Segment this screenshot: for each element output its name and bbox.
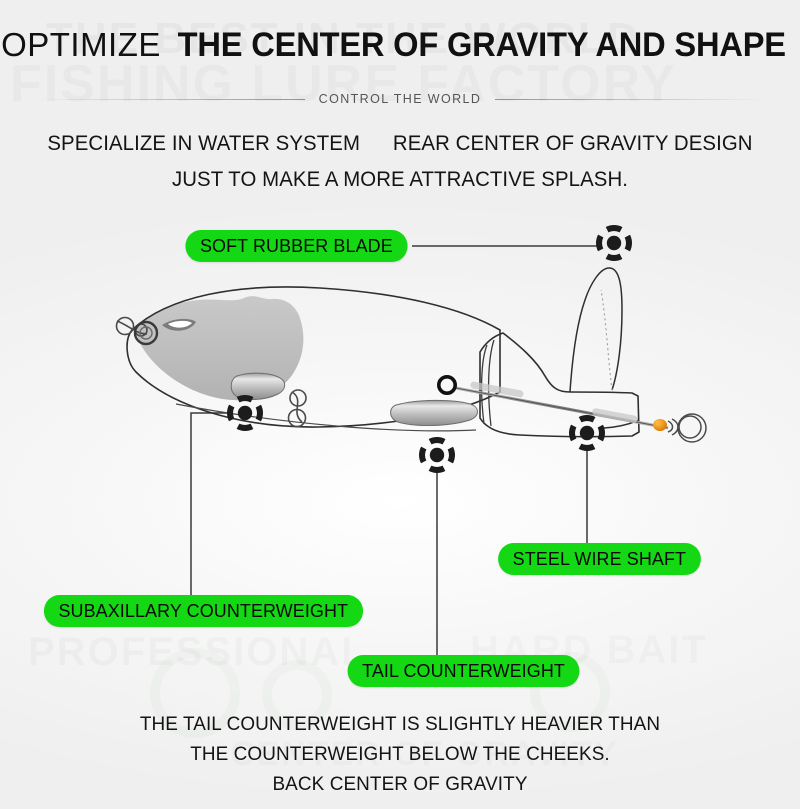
label-steel-wire-shaft[interactable]: STEEL WIRE SHAFT (498, 543, 700, 575)
marker-soft-rubber-blade[interactable] (599, 228, 629, 258)
lure-tail-section-outline (480, 333, 639, 437)
lure-diagram (0, 0, 800, 809)
tail-bead-and-ring (653, 414, 706, 442)
label-subaxillary-counterweight[interactable]: SUBAXILLARY COUNTERWEIGHT (44, 595, 363, 627)
orange-bead (653, 419, 667, 431)
leader-subaxillary (191, 413, 228, 598)
lure-joint-seam (482, 340, 494, 426)
tail-counterweight-body (391, 400, 478, 425)
lure-illustration (117, 228, 707, 470)
footer-line-1: THE TAIL COUNTERWEIGHT IS SLIGHTLY HEAVI… (12, 713, 788, 736)
lure-tail-fin (570, 268, 622, 392)
subaxillary-counterweight-body (231, 373, 284, 399)
marker-tail-counterweight[interactable] (422, 440, 452, 470)
footer-line-2: THE COUNTERWEIGHT BELOW THE CHEEKS. (12, 743, 788, 766)
infographic-page: THE BEST IN THE WORLD FISHING LURE FACTO… (0, 0, 800, 809)
label-soft-rubber-blade[interactable]: SOFT RUBBER BLADE (185, 230, 407, 262)
footer-line-3: BACK CENTER OF GRAVITY (12, 773, 788, 796)
wire-exit-ring (439, 377, 455, 393)
lure-tail-fin-rib (601, 290, 612, 390)
label-tail-counterweight[interactable]: TAIL COUNTERWEIGHT (348, 655, 580, 687)
marker-steel-wire-shaft[interactable] (572, 418, 602, 448)
